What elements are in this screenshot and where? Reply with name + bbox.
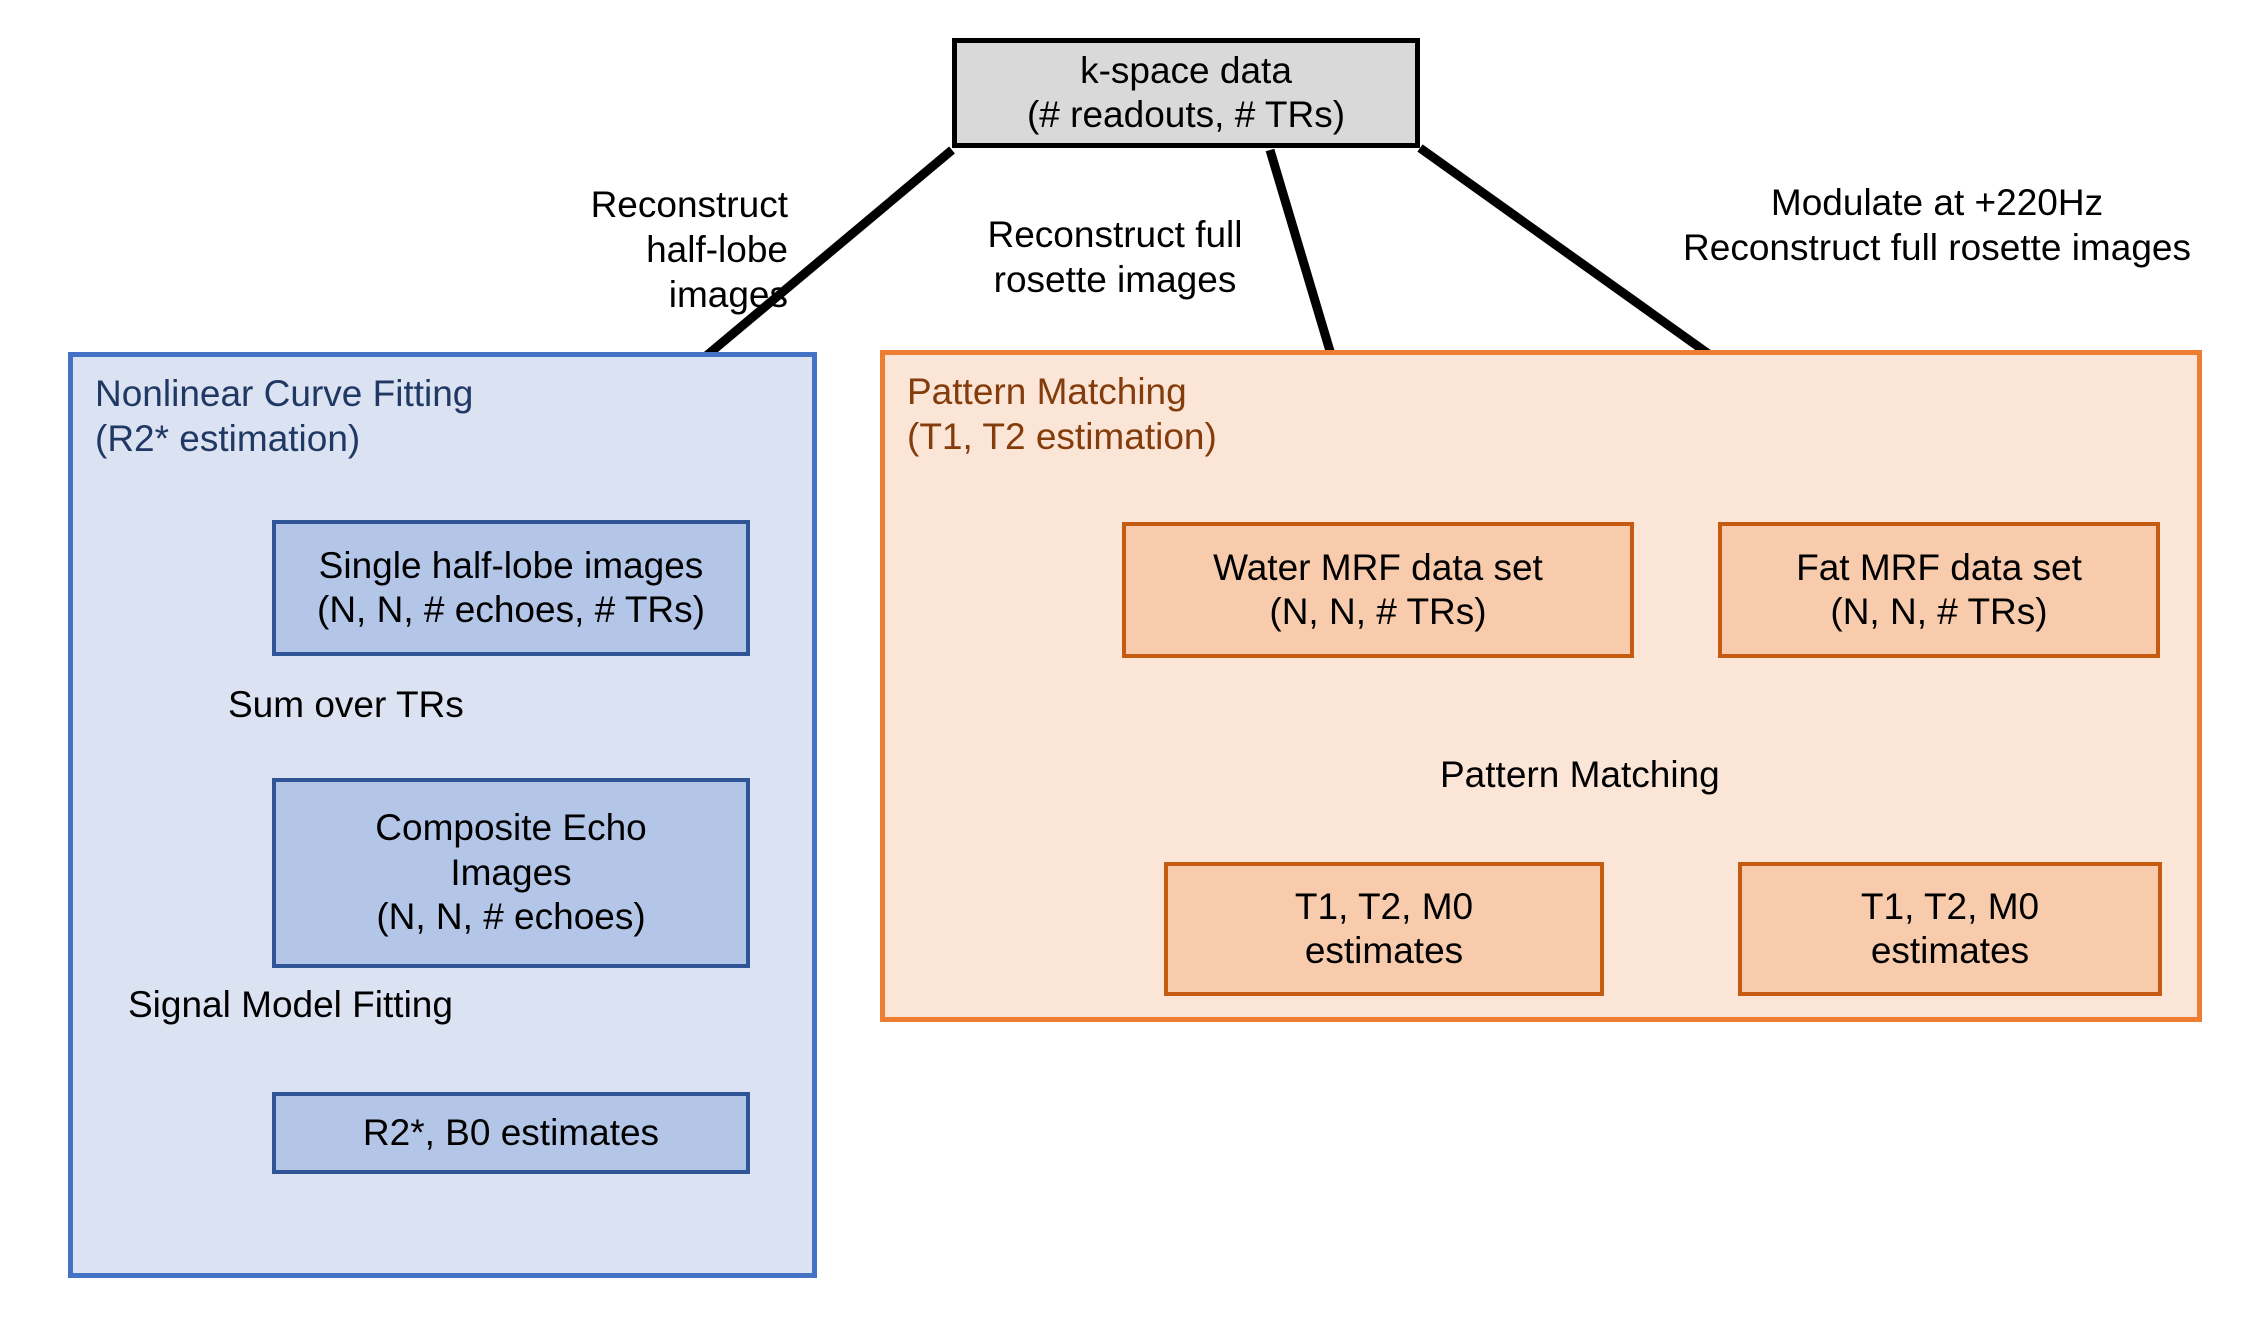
edge-label-signal-model-fitting: Signal Model Fitting xyxy=(128,982,453,1027)
node-single-half-lobe-images[interactable]: Single half-lobe images (N, N, # echoes,… xyxy=(272,520,750,656)
node-composite-echo-images[interactable]: Composite Echo Images (N, N, # echoes) xyxy=(272,778,750,968)
diagram-canvas: Nonlinear Curve Fitting (R2* estimation)… xyxy=(0,0,2266,1336)
node-water-t1-t2-m0-estimates[interactable]: T1, T2, M0 estimates xyxy=(1164,862,1604,996)
node-kspace-data[interactable]: k-space data (# readouts, # TRs) xyxy=(952,38,1420,148)
node-water-mrf-data-set[interactable]: Water MRF data set (N, N, # TRs) xyxy=(1122,522,1634,658)
node-fat-mrf-data-set[interactable]: Fat MRF data set (N, N, # TRs) xyxy=(1718,522,2160,658)
node-r2-b0-estimates[interactable]: R2*, B0 estimates xyxy=(272,1092,750,1174)
node-fat-t1-t2-m0-estimates[interactable]: T1, T2, M0 estimates xyxy=(1738,862,2162,996)
edge-label-modulate-220hz: Modulate at +220Hz Reconstruct full rose… xyxy=(1672,180,2202,270)
edge-label-reconstruct-full-rosette-images: Reconstruct full rosette images xyxy=(960,212,1270,302)
edge-label-sum-over-trs: Sum over TRs xyxy=(228,682,464,727)
panel-pattern-matching-title: Pattern Matching (T1, T2 estimation) xyxy=(907,369,1217,459)
panel-nonlinear-curve-fitting-title: Nonlinear Curve Fitting (R2* estimation) xyxy=(95,371,473,461)
edge-label-reconstruct-half-lobe-images: Reconstruct half-lobe images xyxy=(548,182,788,317)
edge-label-pattern-matching: Pattern Matching xyxy=(1440,752,1720,797)
